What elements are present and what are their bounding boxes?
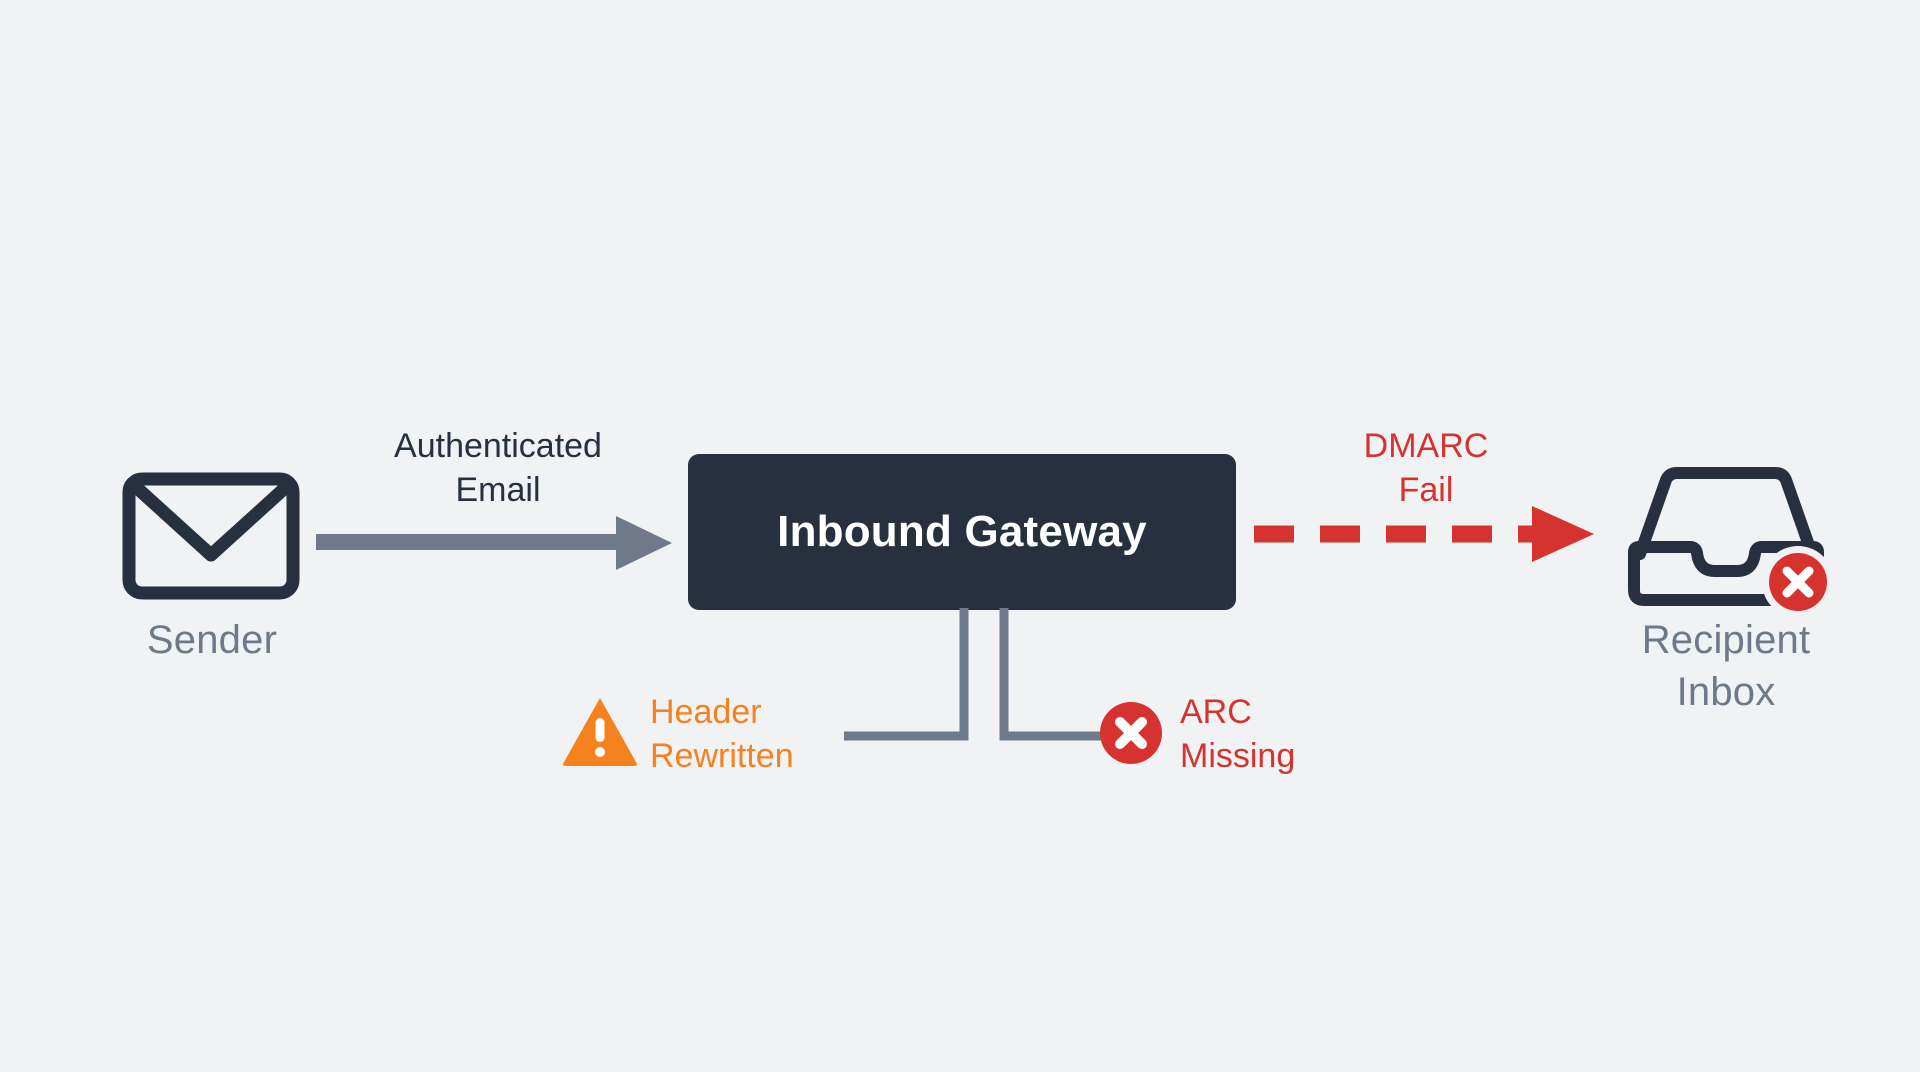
diagram-canvas: Sender Authenticated Email Inbound Gatew…: [0, 0, 1920, 1072]
recipient-inbox-label: Recipient Inbox: [1568, 614, 1884, 718]
dmarc-fail-arrow: [1250, 504, 1600, 564]
error-x-circle-icon: [1100, 702, 1162, 764]
dmarc-fail-label: DMARC Fail: [1276, 424, 1576, 512]
envelope-icon: [122, 472, 300, 600]
header-rewritten-label: Header Rewritten: [650, 690, 890, 778]
authenticated-email-arrow: [316, 512, 680, 574]
arc-missing-label: ARC Missing: [1180, 690, 1420, 778]
inbox-tray-icon: [1622, 468, 1830, 608]
authenticated-email-label: Authenticated Email: [318, 424, 678, 512]
inbound-gateway-label: Inbound Gateway: [777, 507, 1147, 557]
inbound-gateway-box[interactable]: Inbound Gateway: [688, 454, 1236, 610]
error-x-circle-icon: [1769, 553, 1827, 611]
warning-triangle-icon: [562, 696, 638, 766]
sender-label: Sender: [62, 614, 362, 666]
